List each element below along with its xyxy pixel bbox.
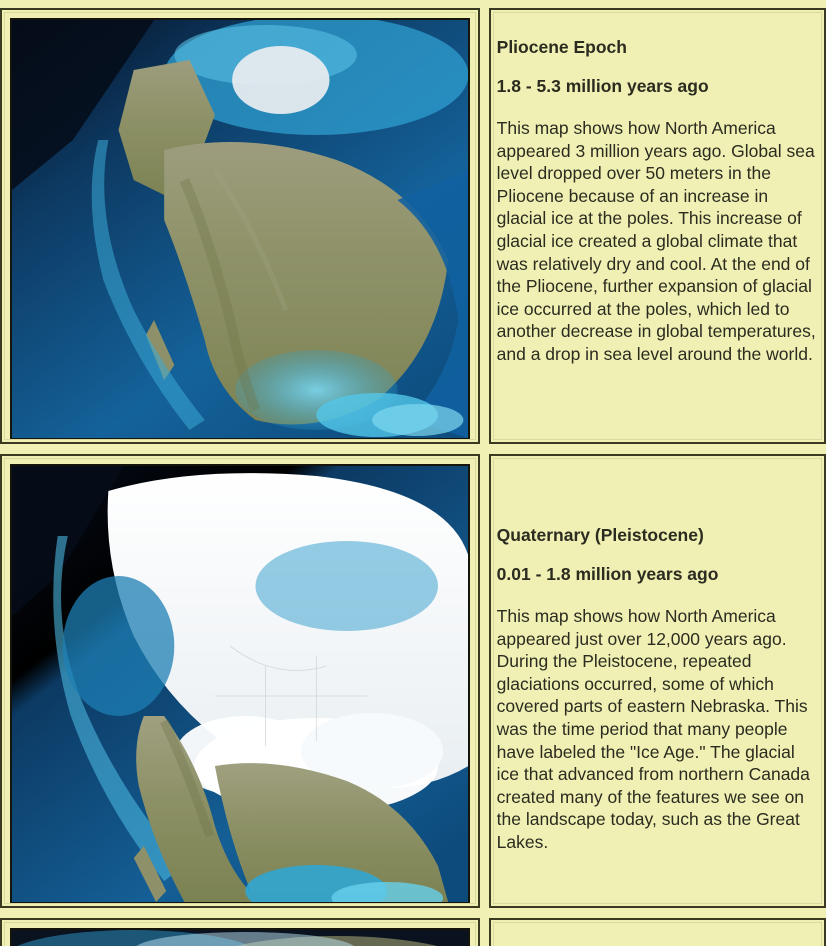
text-cell (489, 918, 826, 946)
epoch-title: Pliocene Epoch (497, 36, 816, 59)
epoch-description-block (491, 920, 824, 936)
epoch-age-range: 1.8 - 5.3 million years ago (497, 75, 816, 98)
geologic-epoch-table: Pliocene Epoch 1.8 - 5.3 million years a… (0, 0, 826, 946)
epoch-age-range: 0.01 - 1.8 million years ago (497, 563, 816, 586)
row-spacer (0, 444, 826, 454)
column-gutter (480, 918, 488, 946)
table-row (0, 918, 826, 946)
column-gutter (480, 8, 488, 444)
epoch-description: This map shows how North America appeare… (497, 605, 816, 853)
map-cell (0, 8, 480, 444)
epoch-description-block: Pliocene Epoch 1.8 - 5.3 million years a… (491, 10, 824, 375)
paleogeography-page: Pliocene Epoch 1.8 - 5.3 million years a… (0, 0, 826, 946)
map-cell (0, 918, 480, 946)
table-row: Quaternary (Pleistocene) 0.01 - 1.8 mill… (0, 454, 826, 908)
text-cell: Pliocene Epoch 1.8 - 5.3 million years a… (489, 8, 826, 444)
row-spacer (0, 908, 826, 918)
epoch-description-block: Quaternary (Pleistocene) 0.01 - 1.8 mill… (491, 456, 824, 863)
table-row: Pliocene Epoch 1.8 - 5.3 million years a… (0, 8, 826, 444)
epoch-description: This map shows how North America appeare… (497, 117, 816, 365)
row-spacer (0, 0, 826, 8)
column-gutter (480, 454, 488, 908)
text-cell: Quaternary (Pleistocene) 0.01 - 1.8 mill… (489, 454, 826, 908)
map-cell (0, 454, 480, 908)
pleistocene-north-america-map-image (12, 466, 468, 902)
paleogeographic-map-next-image (12, 930, 468, 946)
pliocene-north-america-map-image (12, 20, 468, 438)
epoch-title: Quaternary (Pleistocene) (497, 524, 816, 547)
